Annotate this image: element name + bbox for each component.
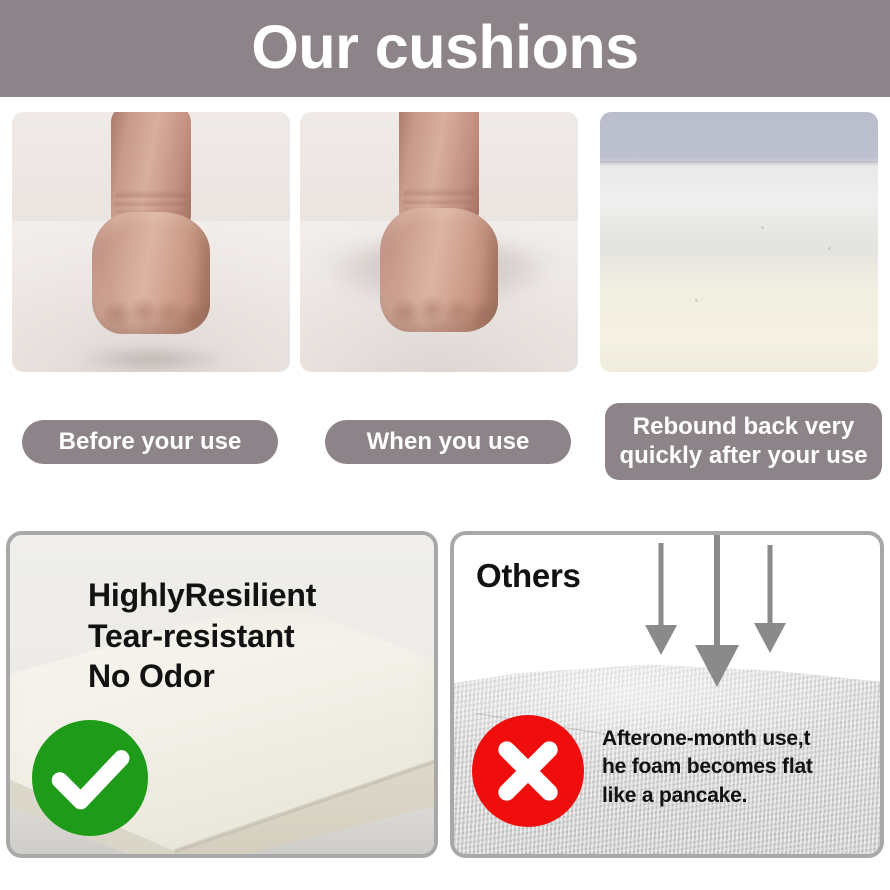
photo-foam-rebounded [600,112,878,372]
feature-item-no-odor: No Odor [88,656,316,697]
panel-others: Others Afterone-month use,t he foam beco… [450,531,884,858]
badge-label: Before your use [59,428,242,456]
others-caption-line-2: he foam becomes flat [602,753,813,781]
demo-photo-row [0,112,890,372]
feature-list: HighlyResilient Tear-resistant No Odor [88,575,316,697]
check-mark-icon [32,720,148,836]
arrow-head [695,645,739,687]
feature-item-tear-resistant: Tear-resistant [88,616,316,657]
arrow-head [645,625,677,655]
others-caption-line-3: like a pancake. [602,782,813,810]
cross-mark-icon [472,715,584,827]
others-caption-line-1: Afterone-month use,t [602,725,813,753]
page-header: Our cushions [0,0,890,97]
badge-label-line-1: Rebound back very [633,413,854,440]
others-caption: Afterone-month use,t he foam becomes fla… [602,725,813,810]
panel-our-cushion: HighlyResilient Tear-resistant No Odor [6,531,438,858]
pressure-arrow-left-icon [644,543,678,655]
knuckle-shading [392,294,488,328]
photo-fist-pressing-foam [300,112,578,372]
foam-speck [695,299,698,302]
pressure-arrow-center-icon [694,535,740,687]
badge-label: When you use [367,428,530,456]
fist-illustration [86,112,216,356]
badge-label: Rebound back very quickly after your use [619,413,867,470]
feature-item-resilient: HighlyResilient [88,575,316,616]
others-title: Others [476,557,581,595]
badge-rebound-back: Rebound back very quickly after your use [605,403,882,480]
fist [92,212,210,334]
fist [380,208,498,332]
arrow-shaft [659,543,664,625]
badge-before-your-use: Before your use [22,420,278,464]
arrow-head [754,623,786,653]
fist-illustration [374,112,504,346]
badge-label-line-2: quickly after your use [619,442,867,469]
page-title: Our cushions [251,17,638,78]
foam-edge-seam [600,161,878,164]
pressure-arrow-right-icon [754,545,786,653]
arrow-shaft [714,535,720,645]
arrow-shaft [768,545,773,625]
badge-when-you-use: When you use [325,420,571,464]
photo-fist-resting-on-foam [12,112,290,372]
foam-surface-rebounded [600,112,878,372]
knuckle-shading [104,296,200,330]
